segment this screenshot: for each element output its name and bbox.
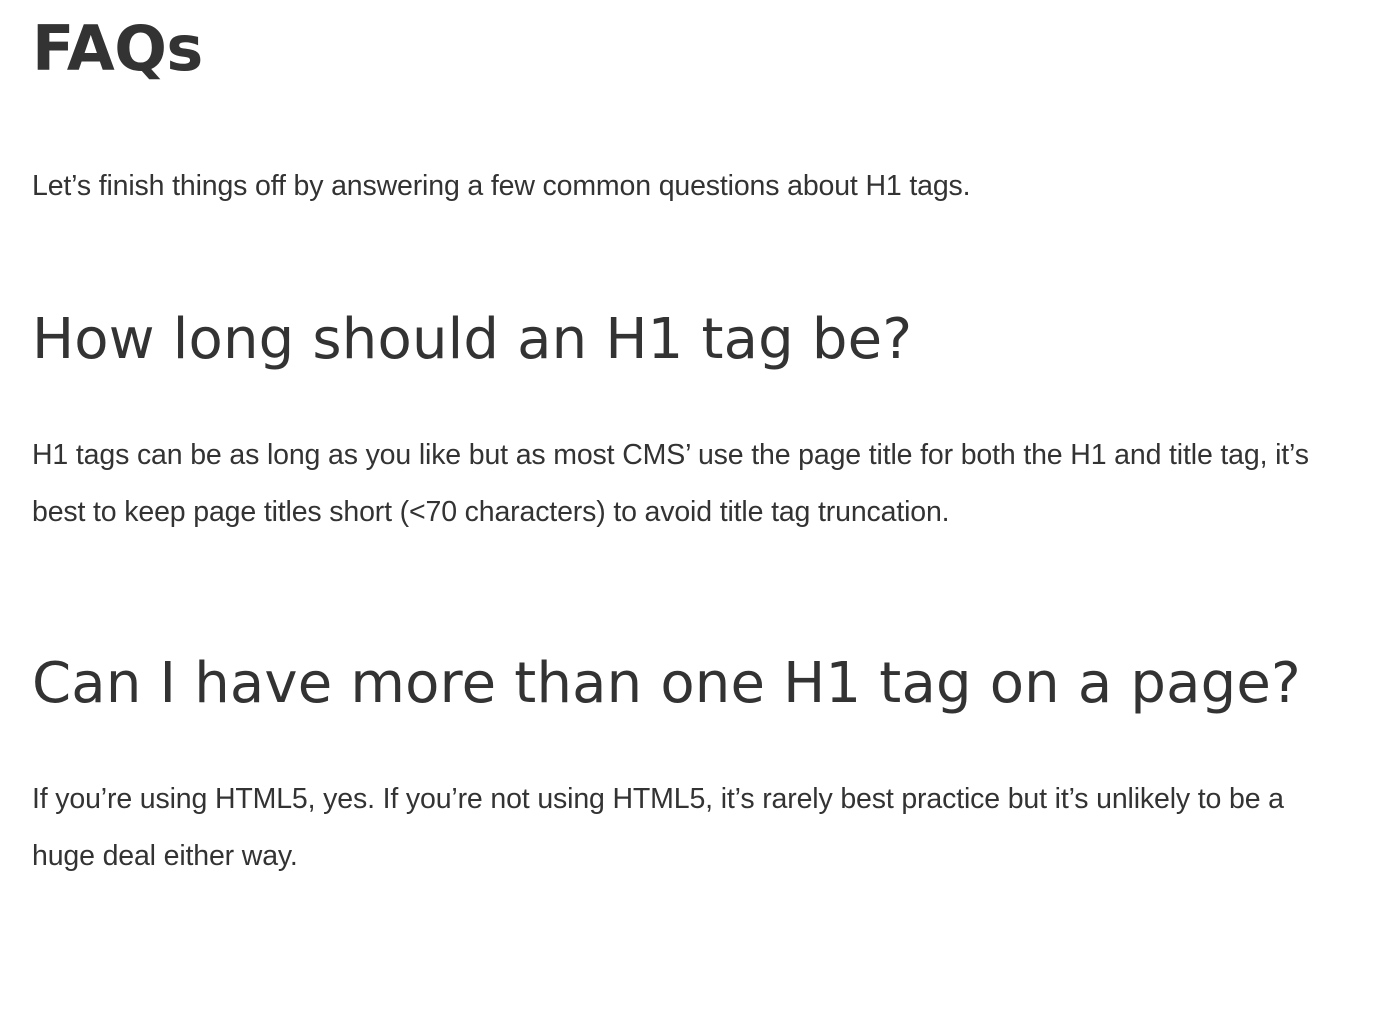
page-title: FAQs	[32, 18, 1350, 80]
intro-paragraph: Let’s finish things off by answering a f…	[32, 158, 1350, 215]
faq-question-2: Can I have more than one H1 tag on a pag…	[32, 645, 1332, 723]
faq-question-1: How long should an H1 tag be?	[32, 301, 1332, 379]
faq-answer-1: H1 tags can be as long as you like but a…	[32, 427, 1350, 541]
faq-answer-2: If you’re using HTML5, yes. If you’re no…	[32, 771, 1350, 885]
faq-article: FAQs Let’s finish things off by answerin…	[0, 0, 1384, 885]
